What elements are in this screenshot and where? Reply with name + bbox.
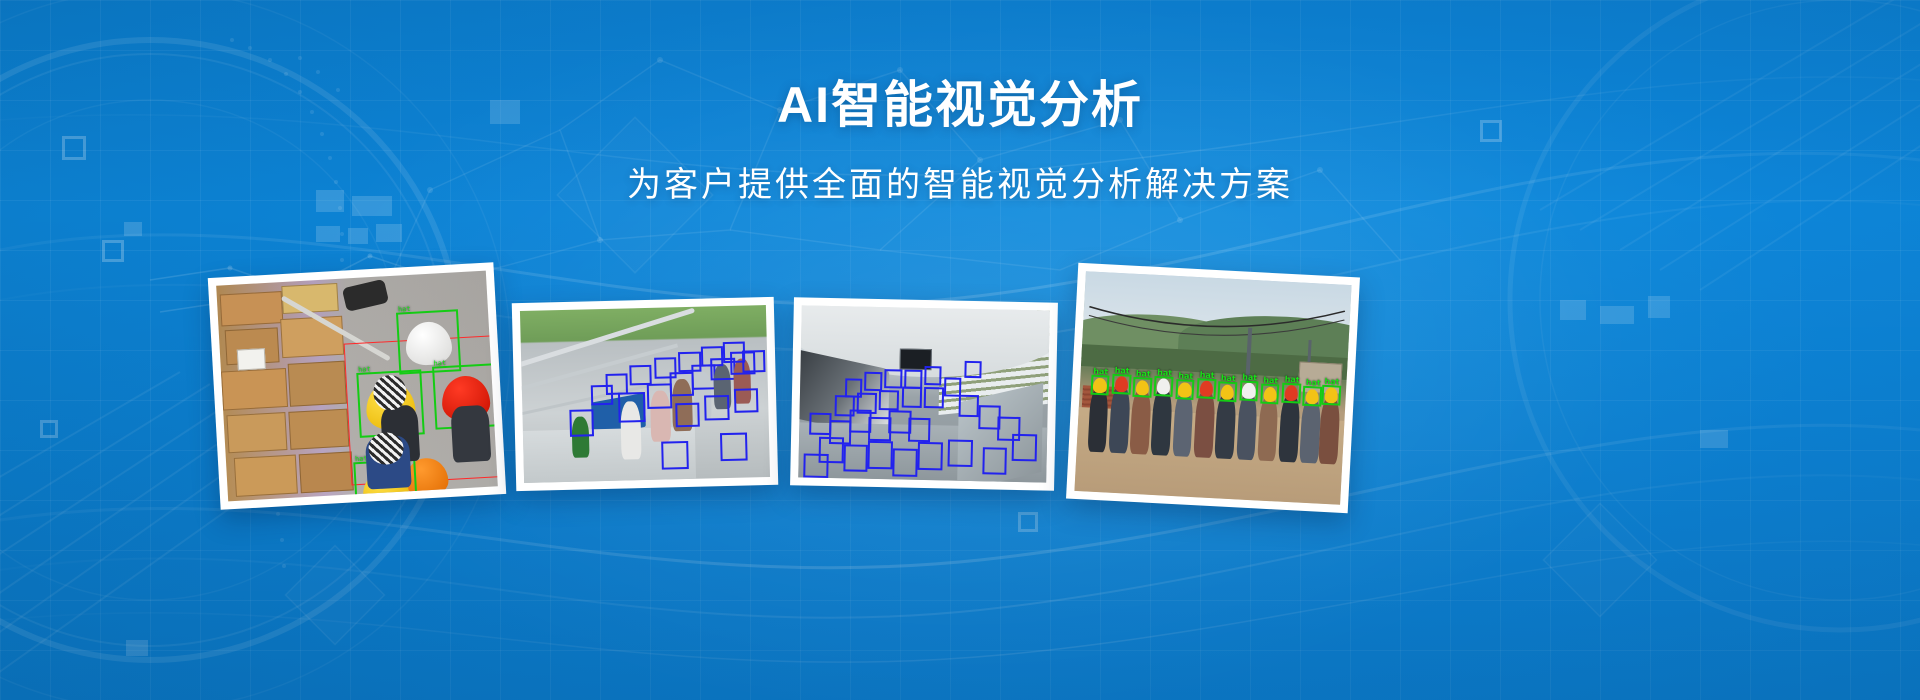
detection-label: hat: [1114, 367, 1129, 376]
detection-box-person: [982, 447, 1007, 475]
detection-box-person: [958, 395, 978, 418]
worker-figure: [1151, 387, 1173, 456]
photo-outdoor-worksite: hat hat hat hat hat: [1074, 271, 1351, 505]
detection-label: hat: [398, 306, 411, 314]
detection-box-person: [569, 409, 594, 437]
detection-box-helmet: hat: [1321, 385, 1341, 406]
ai-vision-banner: AI智能视觉分析 为客户提供全面的智能视觉分析解决方案: [0, 0, 1920, 700]
detection-label: hat: [1178, 373, 1193, 382]
detection-box-person: [654, 357, 677, 378]
detection-box-person: [803, 453, 828, 478]
detection-box-person: [917, 442, 942, 470]
detection-label: hat: [1157, 369, 1172, 378]
detection-box-person: [924, 366, 942, 385]
detection-box-person: [661, 441, 689, 469]
detection-box-person: [591, 384, 614, 405]
worker-figure: [1215, 393, 1237, 460]
page-title: AI智能视觉分析: [0, 78, 1920, 133]
detection-box-person: [704, 395, 729, 420]
showcase-card-outdoor-worksite-hat-detection[interactable]: hat hat hat hat hat: [1066, 263, 1360, 513]
detection-box-person: [675, 403, 700, 428]
detection-box-helmet: hat: [1090, 375, 1110, 396]
detection-box-person: [908, 418, 931, 443]
showcase-card-warehouse-helmet-detection[interactable]: hat hat hat hat: [208, 262, 507, 510]
photo-station-platform: [798, 305, 1050, 482]
detection-box-helmet: hat: [1111, 374, 1131, 395]
detection-box-person: [924, 387, 944, 408]
detection-label: hat: [1306, 379, 1321, 388]
page-subtitle: 为客户提供全面的智能视觉分析解决方案: [0, 157, 1920, 206]
detection-box-helmet: hat: [1239, 381, 1259, 402]
showcase-card-footbridge-crowd-detection[interactable]: [512, 297, 779, 491]
detection-box-helmet: hat: [1303, 386, 1323, 407]
detection-label: hat: [1324, 378, 1339, 387]
photo-warehouse-overhead: hat hat hat hat: [216, 271, 498, 502]
detection-box-person: [893, 448, 918, 476]
detection-box-person: [879, 390, 899, 411]
detection-box-person: [618, 392, 646, 422]
detection-box-helmet: hat: [1154, 376, 1174, 397]
detection-box-person: [1012, 434, 1037, 462]
detection-box-helmet: hat: [1133, 377, 1153, 398]
detection-box-helmet: hat: [1281, 383, 1301, 404]
banner-text: AI智能视觉分析 为客户提供全面的智能视觉分析解决方案: [0, 78, 1920, 206]
detection-label: hat: [1093, 368, 1108, 377]
detection-label: hat: [358, 366, 371, 374]
detection-box-person: [843, 444, 868, 472]
detection-box-person: [678, 351, 701, 372]
detection-box-helmet: hat: [1196, 378, 1216, 399]
detection-box-person: [884, 369, 902, 388]
detection-box-person: [720, 433, 748, 461]
detection-box-person: [630, 365, 653, 386]
detection-box-person: [944, 377, 962, 396]
detection-label: hat: [433, 360, 446, 368]
worker-figure: [450, 405, 491, 463]
detection-box-person: [868, 441, 893, 469]
detection-box-person: [865, 372, 883, 391]
detection-label: hat: [1263, 377, 1278, 386]
detection-box-person: [700, 346, 723, 367]
detection-label: hat: [1242, 374, 1257, 383]
detection-box-helmet: hat: [1218, 382, 1238, 403]
detection-label: hat: [1284, 376, 1299, 385]
detection-box-person: [834, 396, 854, 417]
showcase-card-station-platform-crowd-detection[interactable]: [790, 297, 1058, 490]
worker-figure: [1130, 388, 1152, 455]
detection-box-helmet: hat: [1260, 384, 1280, 405]
detection-label: hat: [1221, 375, 1236, 384]
showcase-gallery: hat hat hat hat: [0, 258, 1920, 518]
detection-box-person: [947, 439, 972, 467]
detection-box-person: [845, 379, 863, 398]
detection-box-person: [904, 369, 922, 388]
photo-footbridge-walkway: [520, 305, 770, 483]
detection-box-person: [901, 387, 921, 408]
detection-box-person: [964, 360, 982, 378]
detection-box-person: [742, 350, 765, 373]
detection-label: hat: [1199, 371, 1214, 380]
detection-label: hat: [1136, 370, 1151, 379]
detection-box-helmet: hat: [1175, 379, 1195, 400]
detection-box-person: [733, 388, 758, 413]
